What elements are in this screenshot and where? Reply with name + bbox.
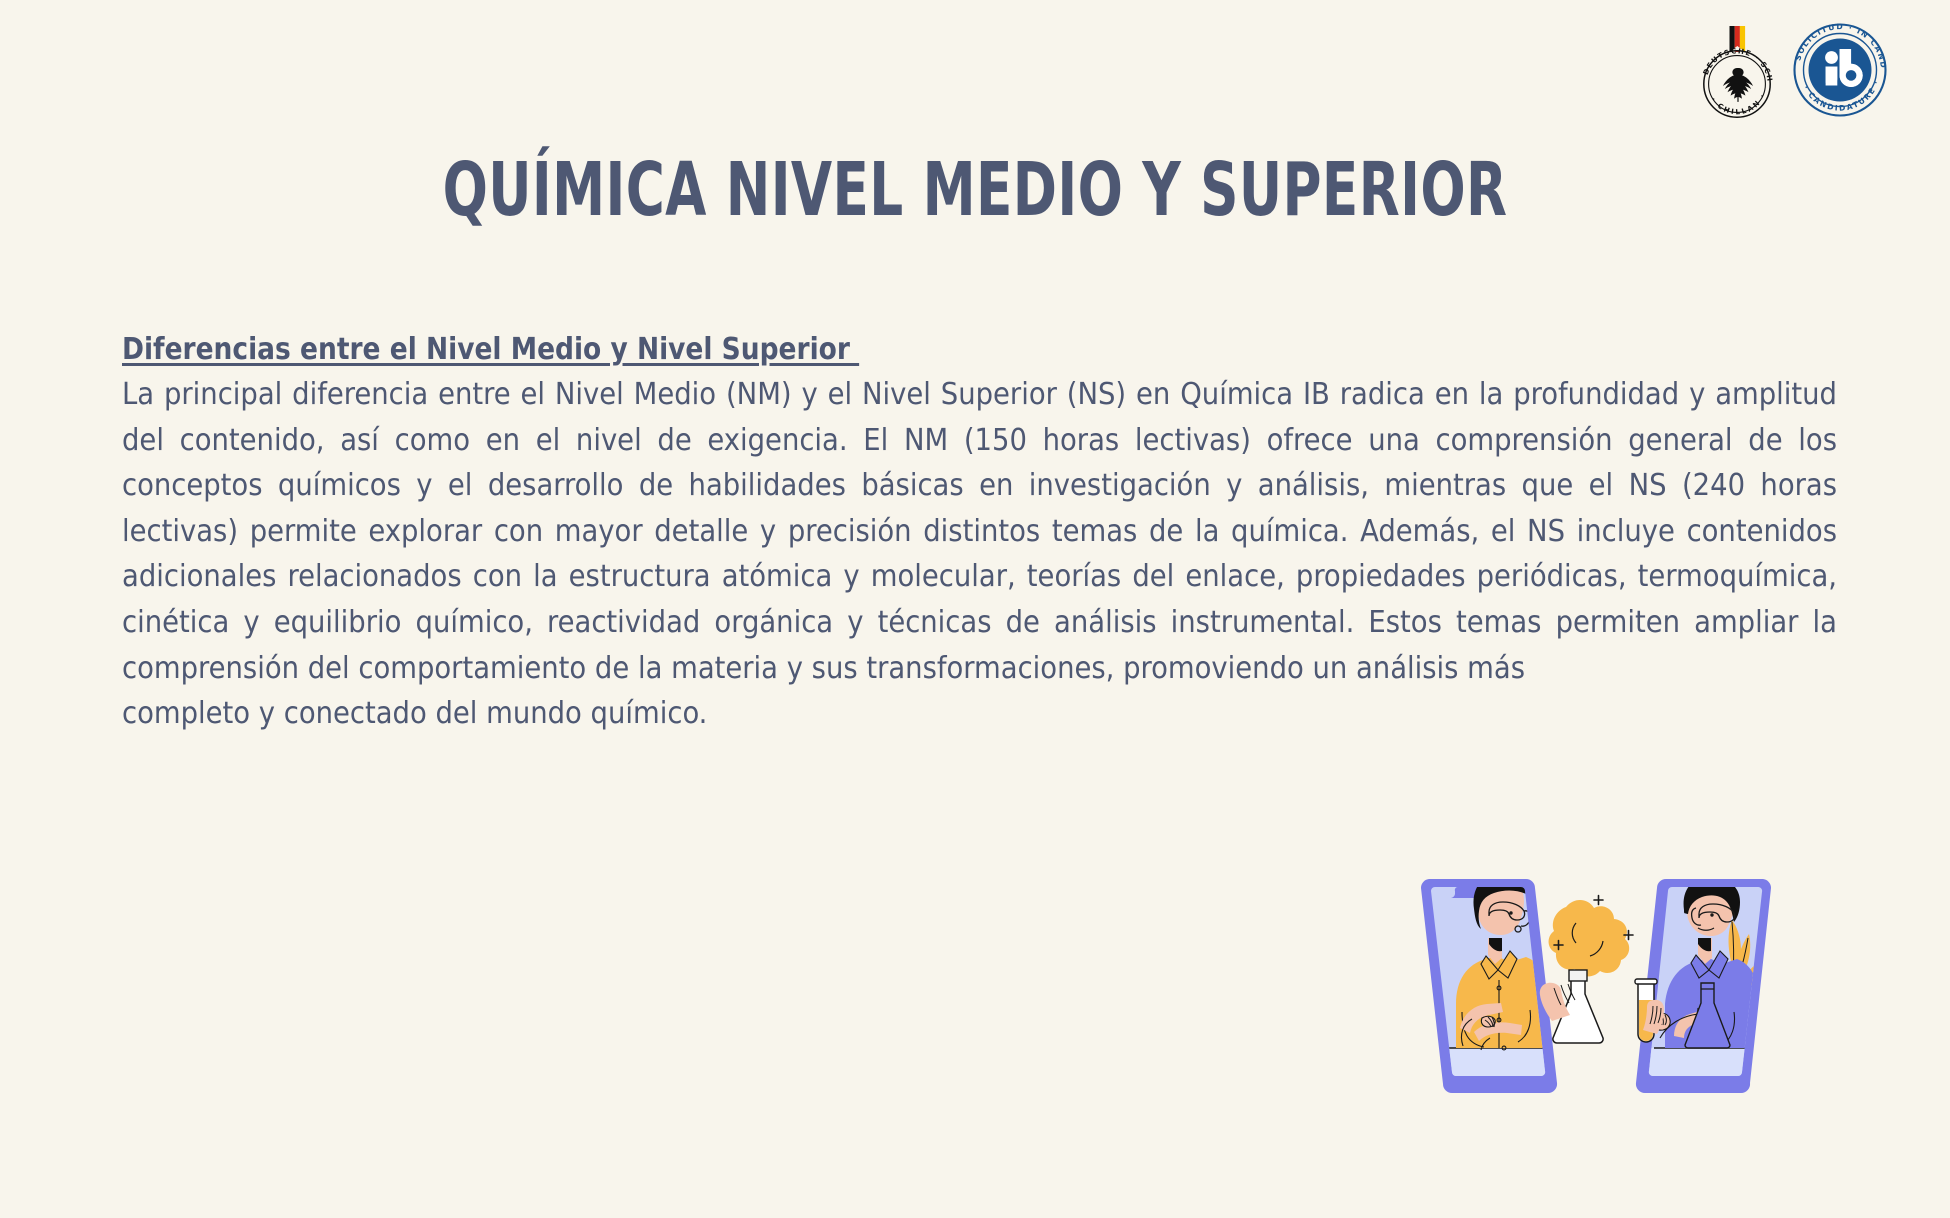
left-phone [1421, 874, 1558, 1093]
right-phone [1636, 877, 1778, 1093]
ib-candidate-school-logo: SOLICITUD · IN CANDIDACY · CANDIDATURE · [1792, 22, 1888, 118]
logo-row: DEUTSCHE · SCHULE · CHILLAN · [1696, 22, 1888, 122]
two-students-doing-chemistry-on-video-call-illustration [1398, 860, 1858, 1200]
paragraph-last-line: completo y conectado del mundo químico. [122, 691, 1837, 737]
deutsche-schule-chillan-logo: DEUTSCHE · SCHULE · CHILLAN · [1696, 22, 1778, 122]
paragraph-body: La principal diferencia entre el Nivel M… [122, 377, 1837, 686]
slide-canvas: DEUTSCHE · SCHULE · CHILLAN · [0, 0, 1950, 1218]
body-text-block: Diferencias entre el Nivel Medio y Nivel… [122, 327, 1837, 782]
page-title: QUÍMICA NIVEL MEDIO Y SUPERIOR [195, 153, 1755, 227]
subheading: Diferencias entre el Nivel Medio y Nivel… [122, 327, 1777, 372]
yellow-gas-cloud [1549, 900, 1630, 976]
paragraph: La principal diferencia entre el Nivel M… [122, 372, 1837, 782]
